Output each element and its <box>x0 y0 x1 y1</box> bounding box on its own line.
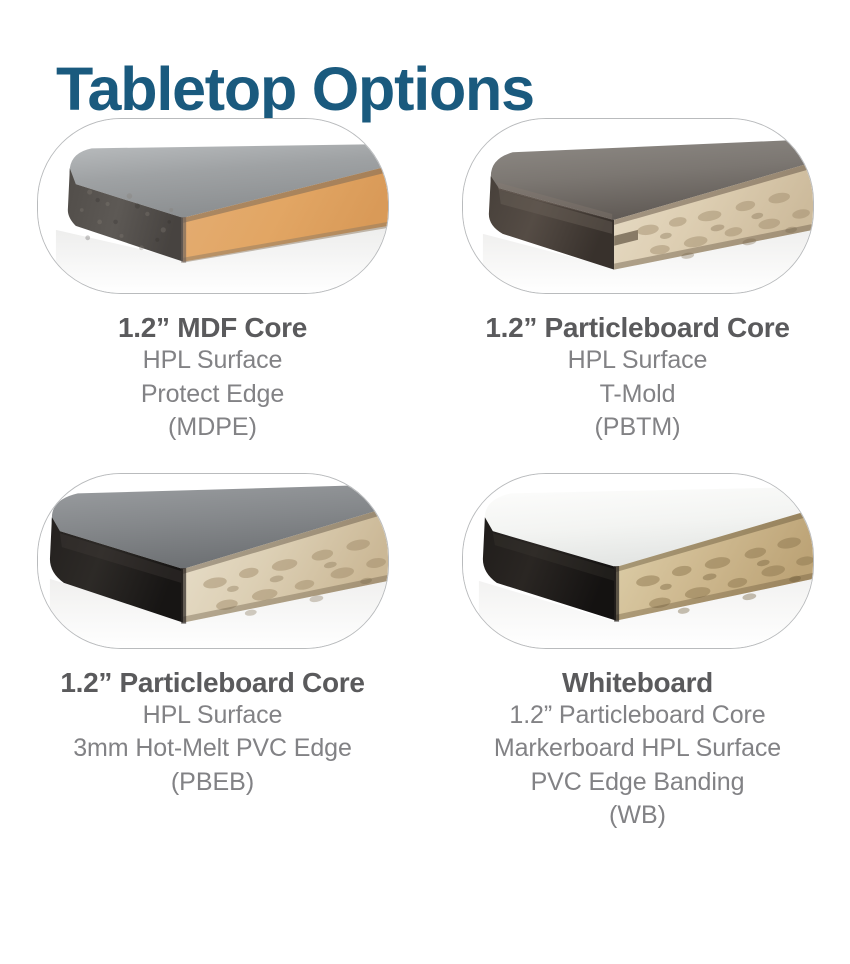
caption-block: 1.2” Particleboard Core HPL Surface 3mm … <box>0 666 425 800</box>
option-detail-line: T-Mold <box>425 378 850 412</box>
option-card-mdpe[interactable]: 1.2” MDF Core HPL Surface Protect Edge (… <box>0 118 425 445</box>
option-title: 1.2” Particleboard Core <box>425 311 850 344</box>
caption-block: 1.2” MDF Core HPL Surface Protect Edge (… <box>0 311 425 445</box>
particleboard-core-pvc-edge-icon <box>38 474 388 648</box>
option-code: (PBTM) <box>425 411 850 445</box>
sample-image-frame <box>462 473 814 649</box>
option-card-wb[interactable]: Whiteboard 1.2” Particleboard Core Marke… <box>425 473 850 833</box>
tabletop-options-grid: 1.2” MDF Core HPL Surface Protect Edge (… <box>0 118 850 833</box>
option-title: Whiteboard <box>425 666 850 699</box>
caption-block: 1.2” Particleboard Core HPL Surface T-Mo… <box>425 311 850 445</box>
whiteboard-markerboard-icon <box>463 474 813 648</box>
option-code: (PBEB) <box>0 766 425 800</box>
option-detail-line: HPL Surface <box>425 344 850 378</box>
tabletop-options-card: Tabletop Options <box>0 0 850 964</box>
caption-block: Whiteboard 1.2” Particleboard Core Marke… <box>425 666 850 833</box>
sample-image-frame <box>37 118 389 294</box>
option-card-pbtm[interactable]: 1.2” Particleboard Core HPL Surface T-Mo… <box>425 118 850 445</box>
option-detail-line: Protect Edge <box>0 378 425 412</box>
option-detail-line: 1.2” Particleboard Core <box>425 699 850 733</box>
sample-image-frame <box>37 473 389 649</box>
sample-image-frame <box>462 118 814 294</box>
option-title: 1.2” MDF Core <box>0 311 425 344</box>
option-detail-line: PVC Edge Banding <box>425 766 850 800</box>
option-detail-line: HPL Surface <box>0 699 425 733</box>
particleboard-core-t-mold-icon <box>463 119 813 293</box>
option-detail-line: HPL Surface <box>0 344 425 378</box>
mdf-core-protect-edge-icon <box>38 119 388 293</box>
option-detail-line: 3mm Hot-Melt PVC Edge <box>0 732 425 766</box>
option-code: (WB) <box>425 799 850 833</box>
option-card-pbeb[interactable]: 1.2” Particleboard Core HPL Surface 3mm … <box>0 473 425 833</box>
page-title: Tabletop Options <box>56 54 534 124</box>
option-code: (MDPE) <box>0 411 425 445</box>
option-title: 1.2” Particleboard Core <box>0 666 425 699</box>
option-detail-line: Markerboard HPL Surface <box>425 732 850 766</box>
